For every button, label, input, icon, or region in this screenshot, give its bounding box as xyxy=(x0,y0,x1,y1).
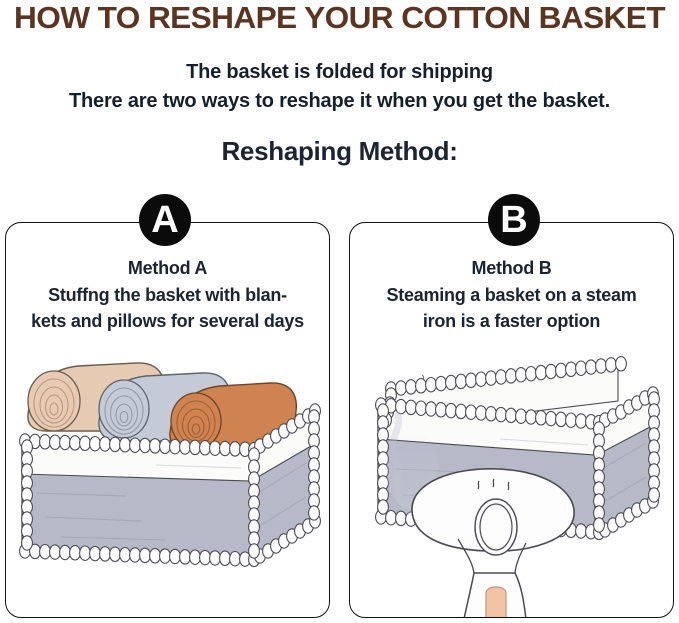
method-a-illustration xyxy=(6,341,329,618)
page-title: HOW TO RESHAPE YOUR COTTON BASKET xyxy=(0,0,679,38)
rope-trim-right-corner xyxy=(309,410,320,520)
rope-trim-left-corner xyxy=(22,440,33,550)
method-a-text: Method A Stuffng the basket with blan- k… xyxy=(6,255,329,334)
subtitle-block: The basket is folded for shipping There … xyxy=(0,58,679,116)
rope-trim-left-corner xyxy=(378,404,389,514)
method-b-illustration xyxy=(350,341,673,618)
method-card-b[interactable]: Method B Steaming a basket on a steam ir… xyxy=(349,222,674,618)
method-b-desc-line-2: iron is a faster option xyxy=(358,308,665,334)
thumb xyxy=(486,587,506,618)
badge-method-a: A xyxy=(139,194,191,246)
rope-trim-front-right-corner xyxy=(249,448,260,558)
method-b-text: Method B Steaming a basket on a steam ir… xyxy=(350,255,673,334)
rope-trim-right-corner xyxy=(649,392,660,502)
section-heading: Reshaping Method: xyxy=(0,136,679,167)
badge-method-b: B xyxy=(488,194,540,246)
method-a-desc-line-1: Stuffng the basket with blan- xyxy=(14,282,321,308)
method-b-title: Method B xyxy=(358,255,665,281)
method-card-a[interactable]: Method A Stuffng the basket with blan- k… xyxy=(5,222,330,618)
steamer-button-inner xyxy=(480,504,512,550)
method-a-title: Method A xyxy=(14,255,321,281)
steam-iron xyxy=(412,469,574,618)
subtitle-line-1: The basket is folded for shipping xyxy=(0,58,679,87)
subtitle-line-2: There are two ways to reshape it when yo… xyxy=(0,87,679,116)
infographic-page: HOW TO RESHAPE YOUR COTTON BASKET The ba… xyxy=(0,0,679,623)
method-a-desc-line-2: kets and pillows for several days xyxy=(14,308,321,334)
methods-container: Method A Stuffng the basket with blan- k… xyxy=(0,222,679,620)
rope-trim-front-right-corner xyxy=(594,422,605,532)
method-b-desc-line-1: Steaming a basket on a steam xyxy=(358,282,665,308)
